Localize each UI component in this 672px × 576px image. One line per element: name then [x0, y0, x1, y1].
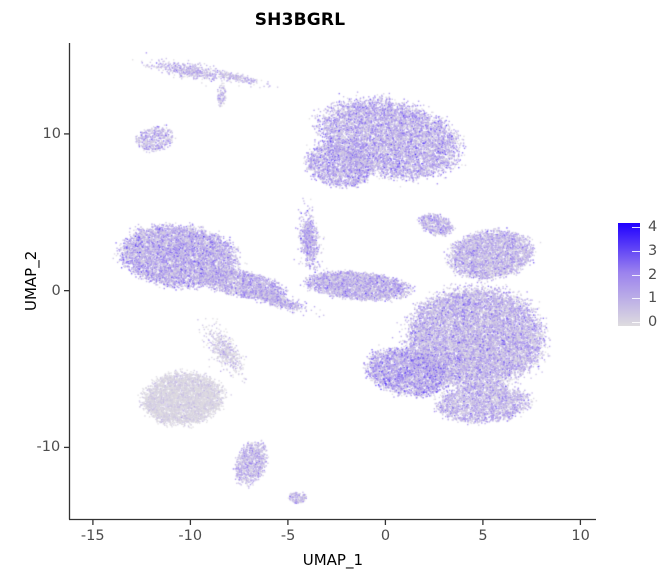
axis-lines — [0, 0, 672, 576]
colorbar-tick — [632, 298, 640, 299]
x-tick-label: -10 — [178, 528, 202, 544]
colorbar-tick-label: 2 — [648, 267, 657, 282]
x-axis-title: UMAP_1 — [303, 551, 363, 569]
y-tick-label: 10 — [43, 126, 61, 142]
umap-feature-plot: SH3BGRL -15-10-50510-10010 UMAP_1 UMAP_2… — [0, 0, 672, 576]
colorbar-tick — [632, 251, 640, 252]
y-tick-label: -10 — [37, 439, 61, 455]
colorbar-tick-label: 4 — [648, 220, 657, 235]
colorbar-tick-label: 3 — [648, 244, 657, 259]
colorbar-tick-label: 1 — [648, 291, 657, 306]
x-tick-label: 10 — [571, 528, 589, 544]
colorbar-tick — [632, 275, 640, 276]
y-axis-title: UMAP_2 — [22, 251, 40, 311]
colorbar-tick — [632, 227, 640, 228]
colorbar-tick-label: 0 — [648, 315, 657, 330]
x-tick-label: -5 — [281, 528, 295, 544]
colorbar-tick — [632, 322, 640, 323]
x-tick-label: 0 — [381, 528, 390, 544]
x-tick-label: -15 — [81, 528, 105, 544]
colorbar-legend: 43210 — [618, 223, 672, 329]
x-tick-label: 5 — [478, 528, 487, 544]
y-tick-label: 0 — [52, 283, 61, 299]
